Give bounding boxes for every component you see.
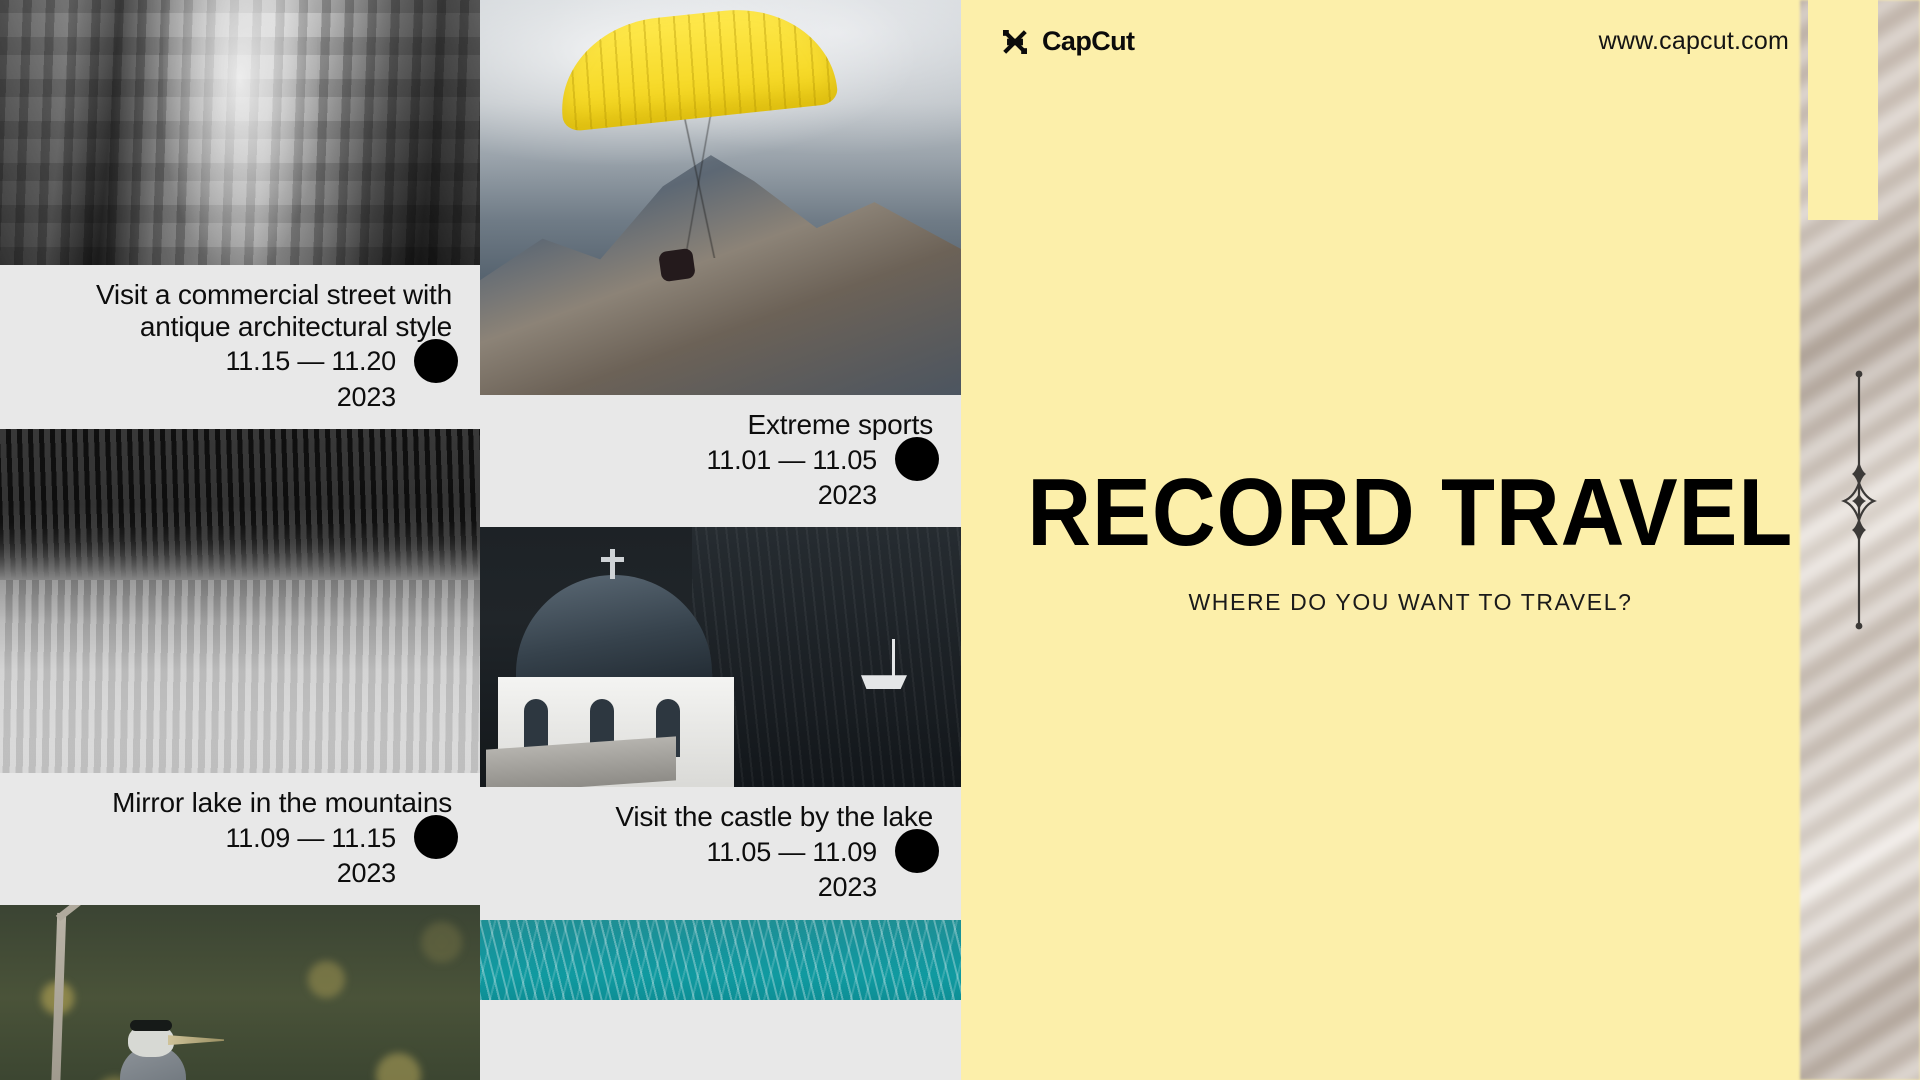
card-castle-by-lake[interactable]: Visit the castle by the lake 11.05 — 11.… [480, 527, 961, 919]
card-dates: 11.09 — 11.15 [24, 823, 452, 854]
card-year: 2023 [24, 382, 452, 413]
heron-beak-shape [168, 1035, 224, 1045]
church-cross-shape [610, 549, 615, 579]
black-dot-marker [895, 829, 939, 873]
sparkle-divider-icon [1833, 365, 1885, 635]
card-dates: 11.05 — 11.09 [504, 837, 933, 868]
sailboat-mast-shape [892, 639, 895, 677]
card-year: 2023 [504, 480, 933, 511]
card-extreme-sports[interactable]: Extreme sports 11.01 — 11.05 2023 [480, 0, 961, 527]
heron-cap-shape [130, 1020, 172, 1031]
card-title: Visit the castle by the lake [504, 801, 933, 833]
branch-shape [47, 913, 66, 1080]
card-dates: 11.15 — 11.20 [24, 346, 452, 377]
card-year: 2023 [24, 858, 452, 889]
caption-extreme-sports: Extreme sports 11.01 — 11.05 2023 [480, 395, 961, 527]
card-title: Extreme sports [504, 409, 933, 441]
photo-mirror-lake [0, 429, 480, 773]
caption-mirror-lake: Mirror lake in the mountains 11.09 — 11.… [0, 773, 480, 905]
card-title: Mirror lake in the mountains [24, 787, 452, 819]
card-title: Visit a commercial street with antique a… [24, 279, 452, 342]
photo-heron [0, 905, 480, 1080]
card-mirror-lake[interactable]: Mirror lake in the mountains 11.09 — 11.… [0, 429, 480, 905]
sailboat-hull-shape [861, 675, 907, 689]
paraglider-pilot-shape [658, 248, 696, 282]
hero-subtitle: WHERE DO YOU WANT TO TRAVEL? [1189, 589, 1633, 616]
caption-castle-by-lake: Visit the castle by the lake 11.05 — 11.… [480, 787, 961, 919]
travel-poster: Visit a commercial street with antique a… [0, 0, 1920, 1080]
church-dome-shape [516, 575, 712, 679]
paraglider-lines-shape [640, 108, 760, 258]
photo-column-left: Visit a commercial street with antique a… [0, 0, 480, 1080]
card-commercial-street[interactable]: Visit a commercial street with antique a… [0, 0, 480, 429]
card-year: 2023 [504, 872, 933, 903]
photo-paraglider [480, 0, 961, 395]
paraglider-canopy-shape [553, 0, 838, 132]
photo-castle-by-lake [480, 527, 961, 787]
yellow-accent-strip [1808, 0, 1878, 220]
black-dot-marker [414, 339, 458, 383]
photo-turquoise-ocean [480, 920, 961, 1000]
caption-commercial-street: Visit a commercial street with antique a… [0, 265, 480, 429]
black-dot-marker [414, 815, 458, 859]
hero-content: RECORD TRAVEL WHERE DO YOU WANT TO TRAVE… [961, 0, 1920, 1080]
branch-twig-shape [56, 905, 93, 921]
photo-column-middle: Extreme sports 11.01 — 11.05 2023 Visi [480, 0, 961, 1080]
photo-commercial-street [0, 0, 480, 265]
hero-title: RECORD TRAVEL [1028, 465, 1794, 561]
hero-panel: CapCut www.capcut.com RECORD TRAVEL WHER… [961, 0, 1920, 1080]
black-dot-marker [895, 437, 939, 481]
card-dates: 11.01 — 11.05 [504, 445, 933, 476]
